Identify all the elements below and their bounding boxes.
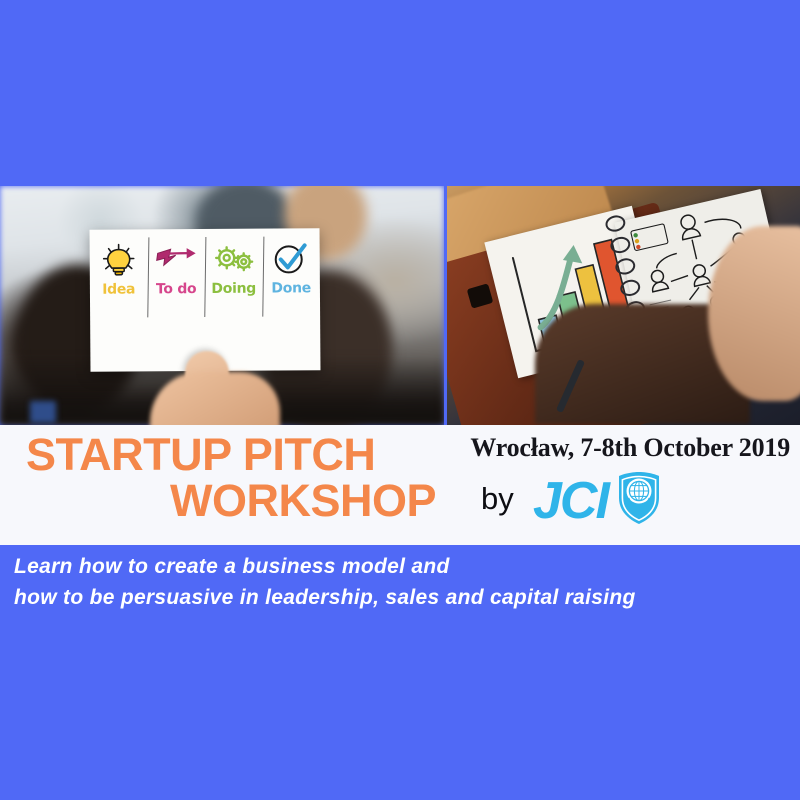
title-band: STARTUP PITCH WORKSHOP Wrocław, 7-8th Oc… bbox=[0, 425, 800, 545]
subtitle-line-1: Learn how to create a business model and bbox=[14, 551, 800, 582]
kanban-column-todo: To do bbox=[147, 229, 205, 371]
photo-band: Idea To do bbox=[0, 186, 800, 425]
page-title-line2: WORKSHOP bbox=[170, 475, 436, 527]
checkmark-icon bbox=[272, 242, 310, 276]
arrow-dart-icon bbox=[154, 243, 198, 277]
subtitle-line-2: how to be persuasive in leadership, sale… bbox=[14, 582, 800, 613]
kanban-column-done: Done bbox=[262, 228, 320, 370]
gears-icon bbox=[211, 243, 255, 277]
photo-blue-accent bbox=[30, 401, 56, 423]
kanban-label-todo: To do bbox=[156, 281, 196, 297]
event-date-location: Wrocław, 7-8th October 2019 bbox=[470, 433, 790, 463]
jci-wordmark: JCI bbox=[533, 475, 608, 527]
notebook-business-plan-photo bbox=[447, 186, 800, 425]
meeting-room-kanban-card-photo: Idea To do bbox=[0, 186, 444, 425]
page-title-line1: STARTUP PITCH bbox=[26, 429, 375, 481]
jci-shield-globe-icon bbox=[616, 470, 662, 531]
kanban-label-idea: Idea bbox=[102, 281, 135, 297]
kanban-label-done: Done bbox=[271, 280, 311, 296]
jci-logo: JCI bbox=[533, 470, 662, 531]
kanban-column-idea: Idea bbox=[90, 229, 148, 371]
subtitle-block: Learn how to create a business model and… bbox=[0, 545, 800, 613]
kanban-column-doing: Doing bbox=[205, 229, 263, 371]
organizer-by-label: by bbox=[481, 481, 514, 517]
kanban-label-doing: Doing bbox=[211, 281, 256, 297]
lightbulb-icon bbox=[100, 243, 136, 277]
